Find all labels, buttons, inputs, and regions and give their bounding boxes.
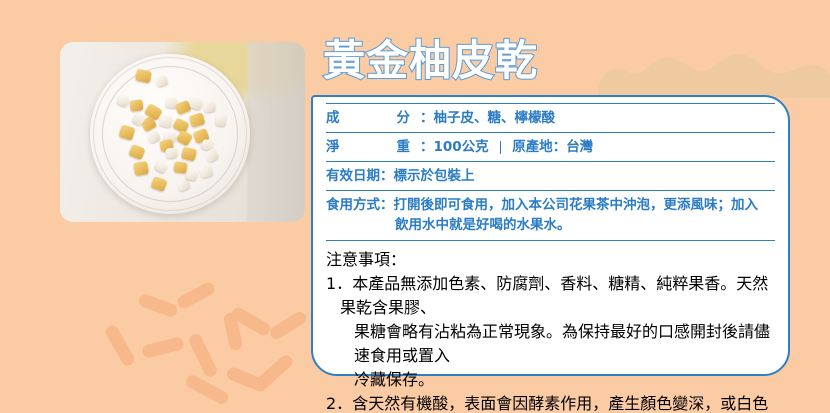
origin-label: 原產地 <box>512 139 553 155</box>
note-line-3: 冷藏保存。 <box>340 366 775 390</box>
photo-plate <box>90 54 250 214</box>
expiry-value: 標示於包裝上 <box>394 168 475 184</box>
usage-line-2: 飲用水中就是好喝的水果水。 <box>326 215 775 235</box>
photo-cutting-board <box>247 42 305 222</box>
row-expiry: 有效日期：標示於包裝上 <box>326 162 775 191</box>
origin-value: 台灣 <box>566 139 593 155</box>
ingredients-separator: ： <box>420 110 434 126</box>
ingredients-value: 柚子皮、糖、檸檬酸 <box>434 110 556 126</box>
product-photo <box>60 42 305 222</box>
expiry-separator: ： <box>380 168 394 184</box>
note-line-1: 含天然有機酸，表面會因酵素作用，產生顏色變深，或白色結晶（糖）， <box>340 394 768 413</box>
net-weight-label: 淨 重 <box>326 137 420 157</box>
notes-section: 注意事項： 1．本產品無添加色素、防腐劑、香料、糖精、純粹果香。天然果乾含果膠、… <box>326 241 775 413</box>
dash-decoration <box>80 287 340 413</box>
net-weight-separator: ： <box>420 139 434 155</box>
product-label-page: 黃金柚皮乾 成 分：柚子皮、糖、檸檬酸 淨 重：100公克原產地：台灣 有效日期… <box>0 0 830 413</box>
note-item: 1．本產品無添加色素、防腐劑、香料、糖精、純粹果香。天然果乾含果膠、 果糖會略有… <box>326 270 775 390</box>
note-number: 2． <box>326 394 352 413</box>
row-usage: 食用方式：打開後即可食用，加入本公司花果茶中沖泡，更添風味；加入 飲用水中就是好… <box>326 191 775 241</box>
ingredients-label: 成 分 <box>326 108 420 128</box>
info-card: 成 分：柚子皮、糖、檸檬酸 淨 重：100公克原產地：台灣 有效日期：標示於包裝… <box>311 95 790 376</box>
note-number: 1． <box>326 274 352 293</box>
origin-separator: ： <box>553 139 567 155</box>
note-item: 2．含天然有機酸，表面會因酵素作用，產生顏色變深，或白色結晶（糖）， 屬正常反應… <box>326 390 775 413</box>
usage-line-1: 打開後即可食用，加入本公司花果茶中沖泡，更添風味；加入 <box>394 197 759 213</box>
note-line-2: 果糖會略有沾粘為正常現象。為保持最好的口感開封後請儘速食用或置入 <box>340 318 775 366</box>
row-weight-origin: 淨 重：100公克原產地：台灣 <box>326 133 775 162</box>
product-title: 黃金柚皮乾 <box>323 36 538 86</box>
expiry-label: 有效日期 <box>326 168 380 184</box>
notes-heading: 注意事項： <box>326 246 775 270</box>
net-weight-value: 100公克 <box>434 139 489 155</box>
vertical-divider <box>500 141 502 154</box>
scallop-decoration <box>596 46 830 98</box>
note-line-1: 本產品無添加色素、防腐劑、香料、糖精、純粹果香。天然果乾含果膠、 <box>340 274 768 317</box>
usage-label: 食用方式 <box>326 197 380 213</box>
usage-separator: ： <box>380 197 394 213</box>
row-ingredients: 成 分：柚子皮、糖、檸檬酸 <box>326 103 775 133</box>
